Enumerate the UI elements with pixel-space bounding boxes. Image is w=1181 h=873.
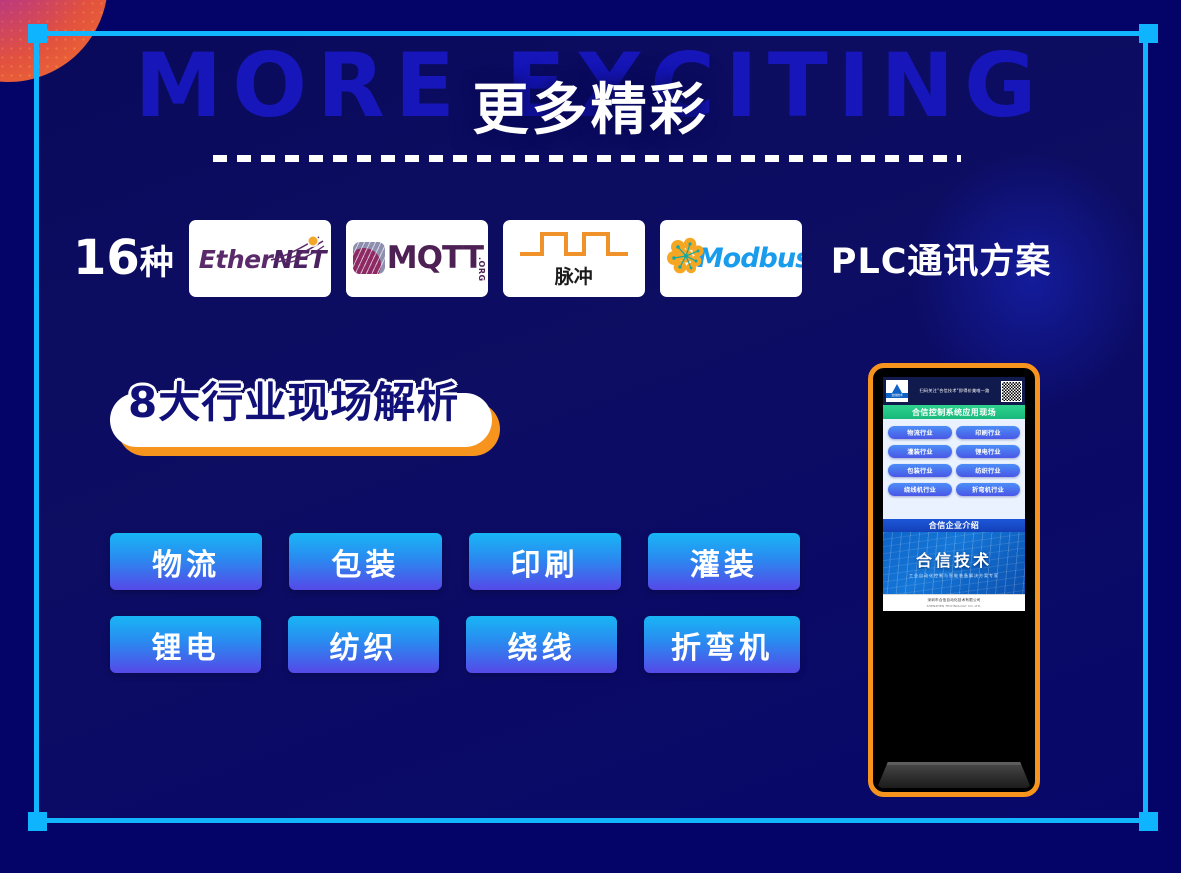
ribbon-label: 8大行业现场解析 xyxy=(128,369,459,430)
kiosk-footer-company-en: SHENZHEN TECHNOLOGY CO.,LTD. xyxy=(927,604,982,608)
kiosk-pill-raoxianji[interactable]: 绕线机行业 xyxy=(888,483,952,496)
industry-row-1: 物流 包装 印刷 灌装 xyxy=(110,533,800,590)
kiosk-screen-header: 合信技术 扫码关注"合信技术"即得价美唯一路 xyxy=(883,377,1025,405)
grid-gap xyxy=(621,533,648,590)
mqtt-logo-card[interactable]: MQTT .ORG xyxy=(346,220,488,297)
kiosk-promo-title: 合信技术 xyxy=(916,547,992,571)
grid-gap xyxy=(261,616,288,673)
dashed-divider xyxy=(213,155,961,162)
kiosk-pill-fangzhi[interactable]: 纺织行业 xyxy=(956,464,1020,477)
mqtt-org-suffix: .ORG xyxy=(477,257,486,282)
kiosk-footer-company: 深圳市合信自动化技术有限公司 xyxy=(927,598,980,603)
modbus-cluster-icon xyxy=(665,236,709,280)
kiosk-pill-guanzhuang[interactable]: 灌装行业 xyxy=(888,445,952,458)
industry-button-grid: 物流 包装 印刷 灌装 锂电 纺织 绕线 折弯机 xyxy=(110,533,800,673)
kiosk-screen: 合信技术 扫码关注"合信技术"即得价美唯一路 合信控制系统应用现场 物流行业 印… xyxy=(883,377,1025,611)
kiosk-pill-yinshua[interactable]: 印刷行业 xyxy=(956,426,1020,439)
hcfa-triangle-icon xyxy=(892,384,902,393)
hcfa-logo-caption: 合信技术 xyxy=(886,393,908,398)
ethernet-logo-card[interactable]: EtherNET xyxy=(189,220,331,297)
pulse-label: 脉冲 xyxy=(555,262,593,289)
modbus-icon: Modbus xyxy=(665,234,797,282)
grid-gap xyxy=(442,533,469,590)
qr-code-icon[interactable] xyxy=(1001,381,1022,402)
kiosk-footer: 深圳市合信自动化技术有限公司 SHENZHEN TECHNOLOGY CO.,L… xyxy=(883,594,1025,611)
industry-row-2: 锂电 纺织 绕线 折弯机 xyxy=(110,616,800,673)
kiosk-base-stand xyxy=(877,762,1031,788)
industry-button-lidian[interactable]: 锂电 xyxy=(110,616,261,673)
industry-button-fangzhi[interactable]: 纺织 xyxy=(288,616,439,673)
grid-gap xyxy=(617,616,644,673)
grid-gap xyxy=(439,616,466,673)
kiosk-promo-subtitle: 工业自动化控制与智能装备解决方案专家 xyxy=(909,573,999,579)
kiosk-promo-panel: 合信技术 工业自动化控制与智能装备解决方案专家 xyxy=(883,532,1025,594)
protocol-count: 16种 xyxy=(73,230,174,286)
page-title: 更多精彩 xyxy=(0,80,1181,142)
industry-button-wuliu[interactable]: 物流 xyxy=(110,533,262,590)
industry-button-yinshua[interactable]: 印刷 xyxy=(469,533,621,590)
grid-gap xyxy=(262,533,289,590)
kiosk-device: 合信技术 扫码关注"合信技术"即得价美唯一路 合信控制系统应用现场 物流行业 印… xyxy=(868,363,1040,797)
kiosk-pill-zhewanji[interactable]: 折弯机行业 xyxy=(956,483,1020,496)
hcfa-logo-icon: 合信技术 xyxy=(886,380,908,402)
modbus-logo-card[interactable]: Modbus xyxy=(660,220,802,297)
kiosk-title-bar: 合信控制系统应用现场 xyxy=(883,405,1025,419)
protocol-row: 16种 EtherNET MQTT .ORG xyxy=(73,218,1118,298)
kiosk-pill-wuliu[interactable]: 物流行业 xyxy=(888,426,952,439)
mqtt-wordmark: MQTT xyxy=(387,240,483,276)
frame-corner-bottom-right xyxy=(1139,812,1158,831)
industry-button-baozhuang[interactable]: 包装 xyxy=(289,533,441,590)
square-wave-icon xyxy=(518,227,630,261)
headline-block: MORE EXCITING 更多精彩 xyxy=(0,40,1181,155)
industry-button-guanzhuang[interactable]: 灌装 xyxy=(648,533,800,590)
kiosk-pill-baozhuang[interactable]: 包装行业 xyxy=(888,464,952,477)
protocol-count-number: 16 xyxy=(73,230,140,286)
kiosk-pill-lidian[interactable]: 锂电行业 xyxy=(956,445,1020,458)
protocol-tail-label: PLC通讯方案 xyxy=(831,233,1052,284)
protocol-count-unit: 种 xyxy=(140,243,174,283)
frame-bottom-line xyxy=(36,818,1146,823)
mqtt-icon: MQTT .ORG xyxy=(353,235,481,281)
kiosk-pill-grid: 物流行业 印刷行业 灌装行业 锂电行业 包装行业 纺织行业 绕线机行业 折弯机行… xyxy=(883,419,1025,519)
ethernet-icon: EtherNET xyxy=(195,232,325,284)
ethernet-text-a: Ether xyxy=(199,245,273,274)
industry-button-zhewanji[interactable]: 折弯机 xyxy=(644,616,800,673)
poster-canvas: MORE EXCITING 更多精彩 16种 EtherNET MQTT xyxy=(0,0,1181,873)
modbus-wordmark: Modbus xyxy=(697,243,802,274)
pulse-icon-group: 脉冲 xyxy=(518,227,630,289)
pulse-logo-card[interactable]: 脉冲 xyxy=(503,220,645,297)
ethernet-swoosh-icon xyxy=(269,234,325,264)
kiosk-header-text: 扫码关注"合信技术"即得价美唯一路 xyxy=(911,388,998,394)
industry-button-raoxian[interactable]: 绕线 xyxy=(466,616,617,673)
mqtt-mark-icon xyxy=(353,242,385,274)
section-ribbon: 8大行业现场解析 xyxy=(110,393,500,456)
frame-corner-bottom-left xyxy=(28,812,47,831)
kiosk-section-bar: 合信企业介绍 xyxy=(883,519,1025,532)
